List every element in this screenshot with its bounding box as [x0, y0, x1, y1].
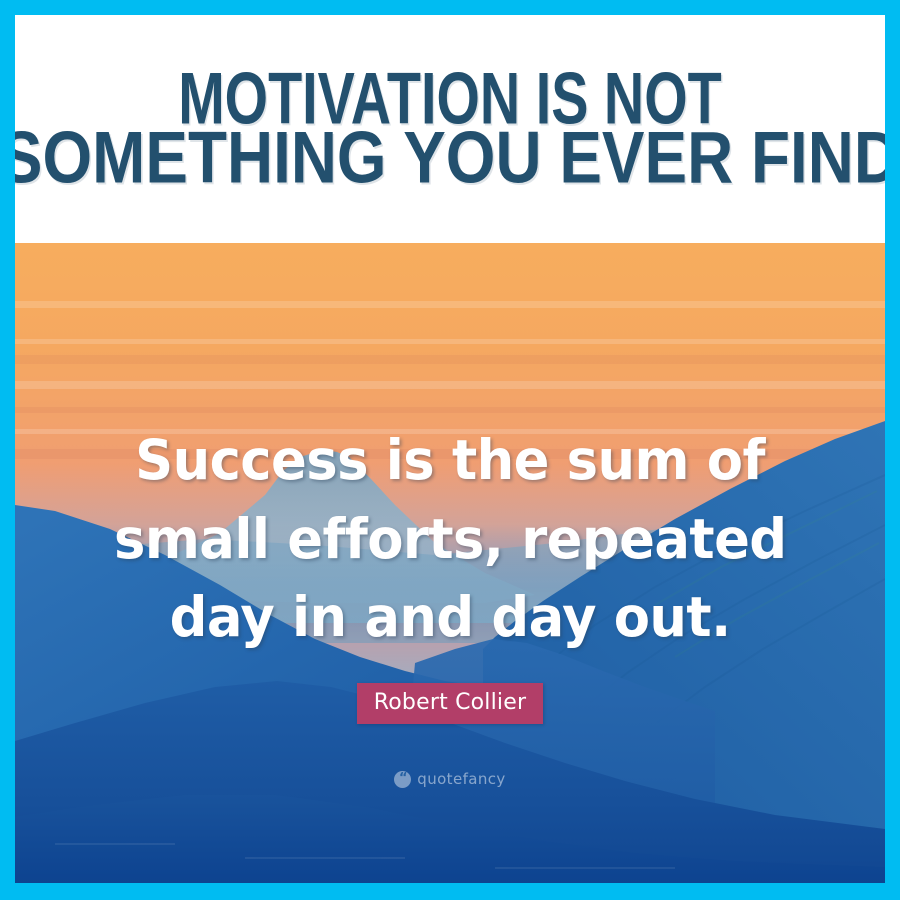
headline-line-2: SOMETHING YOU EVER FIND [15, 125, 885, 192]
author-badge: Robert Collier [357, 683, 543, 724]
quote-line-2: small efforts, repeated [114, 500, 787, 579]
quote-card: MOTIVATION IS NOT SOMETHING YOU EVER FIN… [0, 0, 900, 900]
background-photo: Success is the sum of small efforts, rep… [15, 243, 885, 883]
quote-line-3: day in and day out. [170, 578, 731, 657]
watermark-brand-text: quotefancy [417, 770, 505, 788]
headline-band: MOTIVATION IS NOT SOMETHING YOU EVER FIN… [15, 15, 885, 243]
quote-mark-icon: “ [394, 771, 411, 788]
quote-line-1: Success is the sum of [135, 421, 765, 500]
quotefancy-watermark: “ quotefancy [15, 770, 885, 788]
